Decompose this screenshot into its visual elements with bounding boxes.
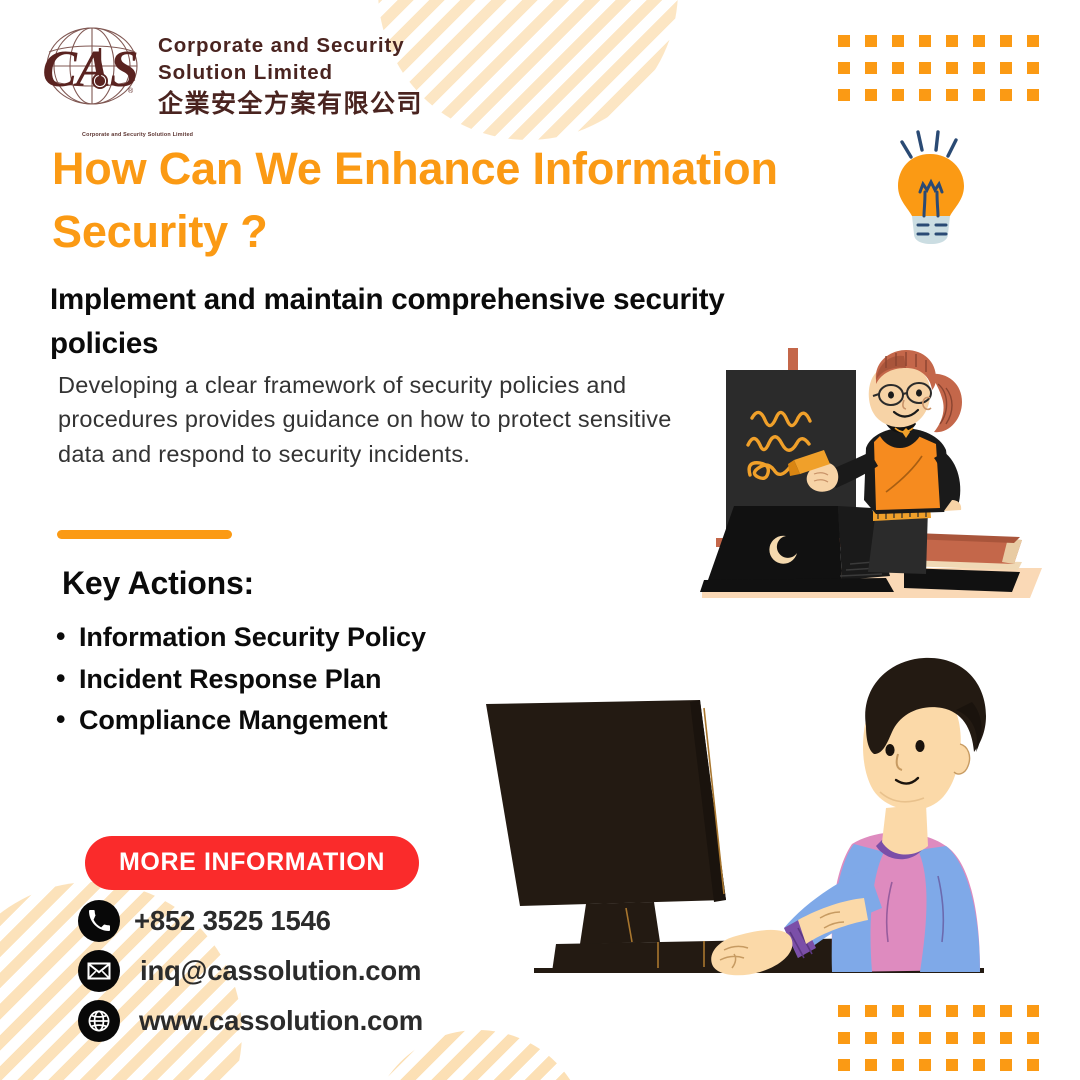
man-at-computer-illustration	[468, 632, 1068, 997]
list-item: Compliance Mangement	[52, 701, 522, 741]
accent-divider	[57, 530, 232, 539]
poster-canvas: CAS ® Corporate and Security Solution Li…	[0, 0, 1080, 1080]
brand-name-line-2: Solution Limited	[158, 59, 423, 86]
brand-name-chinese: 企業安全方案有限公司	[158, 89, 423, 119]
cas-globe-monogram-icon: CAS ® Corporate and Security Solution Li…	[40, 26, 144, 106]
email-address: inq@cassolution.com	[140, 955, 421, 987]
list-item: Information Security Policy	[52, 618, 522, 658]
page-title: How Can We Enhance Information Security …	[52, 138, 912, 263]
globe-icon	[78, 1000, 120, 1042]
list-item: Incident Response Plan	[52, 660, 522, 700]
key-actions-title: Key Actions:	[62, 565, 254, 602]
phone-number: +852 3525 1546	[134, 905, 331, 937]
website-url: www.cassolution.com	[139, 1005, 423, 1037]
dot-grid-bottom-right-decoration	[838, 1005, 1039, 1071]
email-icon	[78, 950, 120, 992]
brand-logo[interactable]: CAS ® Corporate and Security Solution Li…	[40, 26, 423, 119]
svg-text:®: ®	[128, 87, 134, 95]
svg-text:CAS: CAS	[42, 41, 137, 98]
phone-icon	[78, 900, 120, 942]
contact-email[interactable]: inq@cassolution.com	[78, 950, 423, 992]
dot-grid-top-right-decoration	[838, 35, 1039, 101]
contact-website[interactable]: www.cassolution.com	[78, 1000, 423, 1042]
lightbulb-icon	[884, 126, 980, 261]
body-paragraph: Developing a clear framework of security…	[58, 368, 708, 471]
brand-name-line-1: Corporate and Security	[158, 32, 423, 59]
contact-phone[interactable]: +852 3525 1546	[78, 900, 423, 942]
section-subtitle: Implement and maintain comprehensive sec…	[50, 278, 750, 365]
teacher-blackboard-illustration	[690, 340, 1060, 615]
more-information-button[interactable]: MORE INFORMATION	[85, 836, 419, 890]
contact-block: +852 3525 1546 inq@cassolution.com	[78, 900, 423, 1050]
brand-name-block: Corporate and Security Solution Limited …	[158, 26, 423, 119]
key-actions-list: Information Security Policy Incident Res…	[52, 618, 522, 743]
